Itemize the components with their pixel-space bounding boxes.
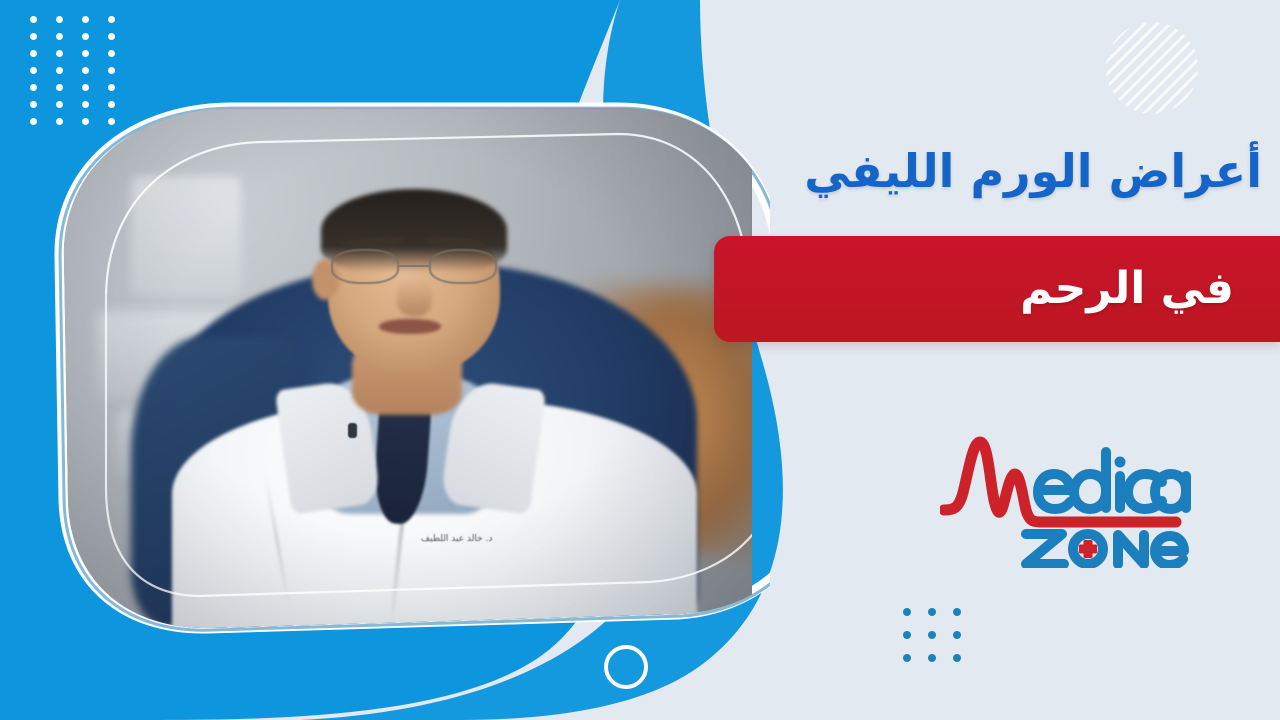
status-badge-label: في الرحم xyxy=(714,267,1234,311)
status-badge: في الرحم xyxy=(714,236,1280,342)
scene-vignette xyxy=(62,108,752,628)
hatched-circle-decoration xyxy=(1106,22,1198,114)
page-title: أعراض الورم الليفي xyxy=(702,143,1262,199)
medicazone-logo[interactable] xyxy=(940,418,1192,568)
video-frame[interactable]: د. خالد عبد اللطيف xyxy=(62,108,752,628)
video-panel[interactable]: د. خالد عبد اللطيف xyxy=(62,108,752,628)
dot-grid-bottom-right xyxy=(903,608,978,677)
thumbnail-canvas: د. خالد عبد اللطيف أعراض الورم الليفي في… xyxy=(0,0,1280,720)
video-scene: د. خالد عبد اللطيف xyxy=(62,108,752,628)
circle-outline-icon xyxy=(604,645,648,689)
